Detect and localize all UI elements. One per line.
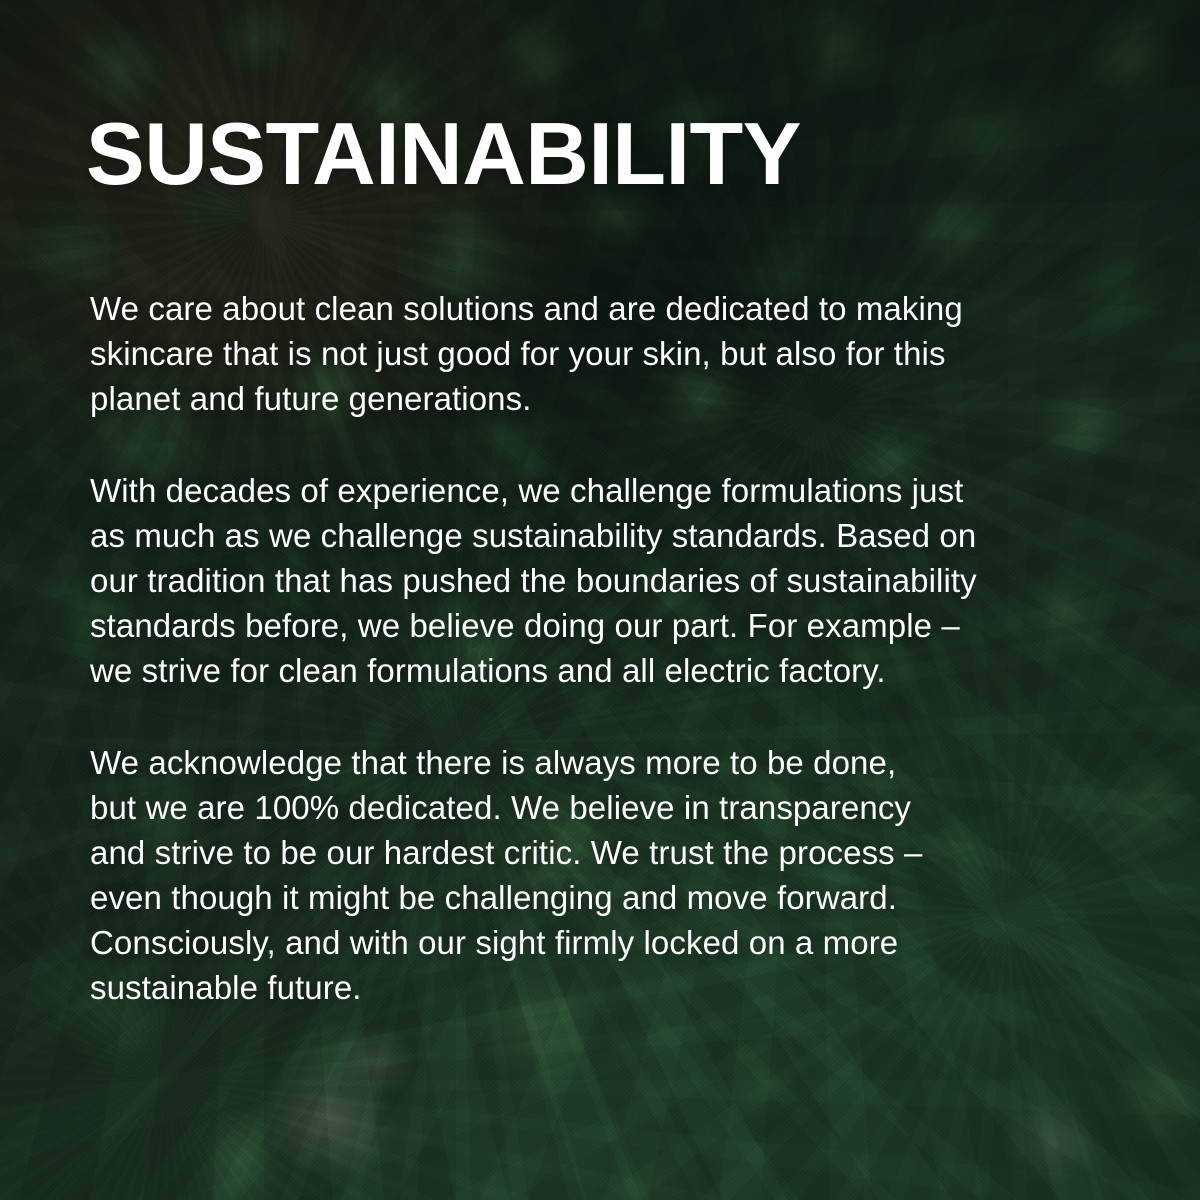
content-column: SUSTAINABILITY We care about clean solut… [90, 0, 1125, 1200]
paragraph-line: Consciously, and with our sight firmly l… [90, 924, 898, 961]
paragraph-line: even though it might be challenging and … [90, 879, 897, 916]
sustainability-page: SUSTAINABILITY We care about clean solut… [0, 0, 1200, 1200]
paragraph-intro: We care about clean solutions and are de… [90, 286, 1125, 421]
paragraph-line: as much as we challenge sustainability s… [90, 517, 976, 554]
paragraph-line: standards before, we believe doing our p… [90, 607, 960, 644]
paragraph-line: We care about clean solutions and are de… [90, 290, 963, 327]
paragraph-line: skincare that is not just good for your … [90, 335, 946, 372]
page-title: SUSTAINABILITY [86, 108, 801, 200]
paragraph-line: We acknowledge that there is always more… [90, 744, 896, 781]
body-copy: We care about clean solutions and are de… [90, 286, 1125, 1010]
paragraph-line: and strive to be our hardest critic. We … [90, 834, 923, 871]
paragraph-line: but we are 100% dedicated. We believe in… [90, 789, 911, 826]
paragraph-line: sustainable future. [90, 969, 362, 1006]
paragraph-line: planet and future generations. [90, 380, 532, 417]
paragraph-line: we strive for clean formulations and all… [90, 652, 886, 689]
paragraph-acknowledgement: We acknowledge that there is always more… [90, 740, 1125, 1010]
paragraph-line: our tradition that has pushed the bounda… [90, 562, 977, 599]
paragraph-experience: With decades of experience, we challenge… [90, 468, 1125, 693]
paragraph-line: With decades of experience, we challenge… [90, 472, 963, 509]
